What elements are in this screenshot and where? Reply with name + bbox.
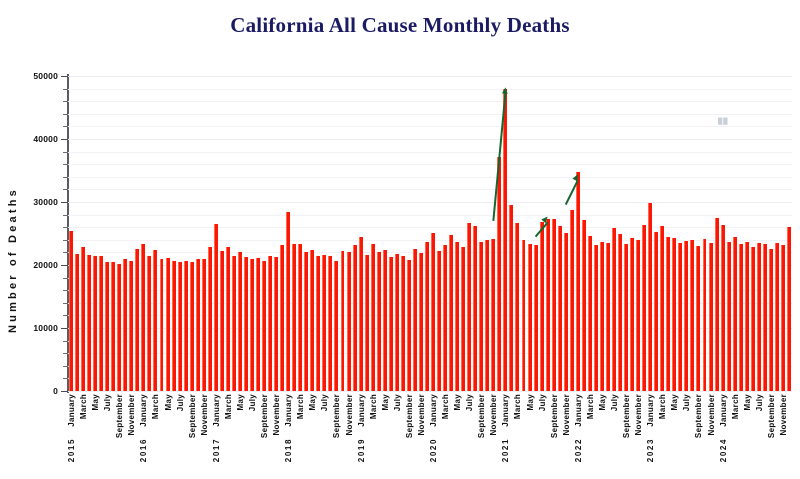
y-tick-minor	[63, 227, 68, 228]
bar	[401, 256, 405, 391]
bar	[341, 251, 345, 391]
bar	[268, 256, 272, 391]
bar	[588, 236, 592, 391]
x-axis-month-label: November	[272, 394, 281, 436]
x-axis-month-label: March	[369, 394, 378, 419]
x-axis-month-label: September	[188, 394, 197, 438]
bar	[564, 233, 568, 391]
x-axis-year-label: 2015	[67, 438, 76, 462]
y-tick-major	[61, 139, 68, 140]
bar	[751, 247, 755, 391]
y-tick-minor	[63, 89, 68, 90]
bar	[129, 261, 133, 391]
bar	[250, 259, 254, 391]
gridline-minor	[68, 378, 792, 379]
bar	[274, 257, 278, 391]
y-tick-minor	[63, 189, 68, 190]
bar	[467, 223, 471, 391]
bar	[479, 242, 483, 391]
gridline-major	[68, 76, 792, 77]
gridline-minor	[68, 152, 792, 153]
bar	[280, 245, 284, 391]
bar	[775, 243, 779, 391]
gridline-major	[68, 139, 792, 140]
bar	[328, 256, 332, 391]
bar	[642, 225, 646, 391]
bar	[449, 235, 453, 391]
bar	[485, 240, 489, 391]
y-tick-minor	[63, 341, 68, 342]
y-tick-minor	[63, 101, 68, 102]
bar	[648, 203, 652, 391]
bar	[491, 239, 495, 391]
x-axis-month-label: May	[670, 394, 679, 410]
bar	[347, 252, 351, 391]
gridline-minor	[68, 303, 792, 304]
bar	[672, 238, 676, 391]
bar	[781, 245, 785, 391]
x-axis-month-label: January	[719, 394, 728, 427]
x-axis-month-label: May	[743, 394, 752, 410]
bar	[528, 244, 532, 391]
bar	[552, 219, 556, 391]
x-axis-month-label: November	[562, 394, 571, 436]
bar	[684, 241, 688, 391]
bar	[172, 261, 176, 391]
y-tick-minor	[63, 240, 68, 241]
x-axis-month-label: May	[453, 394, 462, 410]
y-tick-minor	[63, 215, 68, 216]
bar	[202, 259, 206, 391]
gridline-minor	[68, 341, 792, 342]
gridline-minor	[68, 315, 792, 316]
x-axis-month-label: January	[67, 394, 76, 427]
bar	[334, 261, 338, 391]
bar	[582, 220, 586, 391]
gridline-major	[68, 265, 792, 266]
x-axis-month-label: November	[707, 394, 716, 436]
x-axis-month-label: September	[622, 394, 631, 438]
bar	[660, 226, 664, 391]
x-axis-month-label: September	[767, 394, 776, 438]
y-tick-minor	[63, 303, 68, 304]
y-tick-minor	[63, 290, 68, 291]
bar	[515, 223, 519, 391]
y-axis-label: 40000	[14, 134, 58, 144]
gridline-minor	[68, 215, 792, 216]
bar	[244, 257, 248, 391]
bar	[377, 252, 381, 391]
bar	[757, 243, 761, 391]
y-tick-minor	[63, 177, 68, 178]
x-axis-month-label: May	[236, 394, 245, 410]
bar	[383, 250, 387, 391]
x-axis-month-label: July	[248, 394, 257, 411]
bar	[503, 89, 507, 391]
bar	[310, 250, 314, 391]
bar	[184, 261, 188, 391]
bar	[286, 212, 290, 391]
y-tick-minor	[63, 126, 68, 127]
bar	[739, 244, 743, 391]
x-axis-month-label: March	[151, 394, 160, 419]
y-axis-label: 10000	[14, 323, 58, 333]
bar	[763, 244, 767, 391]
x-axis-month-label: November	[779, 394, 788, 436]
y-tick-major	[61, 391, 68, 392]
bar	[745, 242, 749, 391]
bar	[413, 249, 417, 391]
bar	[262, 261, 266, 391]
y-axis-label: 50000	[14, 71, 58, 81]
x-axis-month-label: July	[393, 394, 402, 411]
y-tick-major	[61, 265, 68, 266]
bar	[769, 249, 773, 391]
gridline-major	[68, 202, 792, 203]
y-tick-minor	[63, 315, 68, 316]
gridline-minor	[68, 240, 792, 241]
bar	[715, 218, 719, 391]
bar	[461, 247, 465, 391]
x-axis-year-label: 2016	[139, 438, 148, 462]
x-axis-month-label: March	[658, 394, 667, 419]
bar	[190, 262, 194, 391]
bar	[709, 243, 713, 391]
gridline-minor	[68, 164, 792, 165]
bar	[75, 254, 79, 391]
x-axis-year-label: 2018	[284, 438, 293, 462]
bar	[117, 264, 121, 391]
bar	[69, 231, 73, 391]
bar	[141, 244, 145, 391]
y-tick-minor	[63, 252, 68, 253]
x-axis-month-label: March	[731, 394, 740, 419]
x-axis-month-label: March	[441, 394, 450, 419]
bar	[322, 255, 326, 391]
bar	[304, 252, 308, 391]
gridline-major	[68, 328, 792, 329]
bar	[594, 245, 598, 391]
x-axis-month-label: September	[694, 394, 703, 438]
bar	[727, 242, 731, 391]
x-axis-month-label: November	[417, 394, 426, 436]
chart-container: California All Cause Monthly Deaths Numb…	[0, 0, 800, 479]
bar	[365, 255, 369, 391]
bar	[81, 247, 85, 391]
bar	[733, 237, 737, 391]
bar	[509, 205, 513, 391]
bar	[147, 256, 151, 391]
gridline-minor	[68, 353, 792, 354]
bar	[196, 259, 200, 391]
x-axis-month-label: November	[489, 394, 498, 436]
x-axis-year-label: 2019	[357, 438, 366, 462]
y-tick-major	[61, 328, 68, 329]
bar	[353, 245, 357, 391]
y-tick-minor	[63, 378, 68, 379]
x-axis-month-label: September	[477, 394, 486, 438]
gridline-minor	[68, 114, 792, 115]
bar	[703, 239, 707, 391]
x-axis-month-label: July	[103, 394, 112, 411]
bar	[636, 240, 640, 391]
bar	[721, 225, 725, 391]
bar	[93, 256, 97, 391]
x-axis-month-label: November	[345, 394, 354, 436]
bar	[606, 243, 610, 391]
x-axis-month-label: March	[296, 394, 305, 419]
y-tick-minor	[63, 164, 68, 165]
x-axis-month-label: November	[200, 394, 209, 436]
x-axis-month-label: November	[127, 394, 136, 436]
x-axis-year-label: 2023	[646, 438, 655, 462]
bar	[618, 234, 622, 392]
y-axis-label: 30000	[14, 197, 58, 207]
bar	[654, 232, 658, 391]
y-tick-major	[61, 202, 68, 203]
x-axis-month-label: July	[176, 394, 185, 411]
y-tick-minor	[63, 278, 68, 279]
stray-mark-icon: ██	[718, 119, 729, 125]
x-axis-month-label: May	[308, 394, 317, 410]
chart-title: California All Cause Monthly Deaths	[0, 13, 800, 38]
bar	[546, 219, 550, 391]
x-axis-tick-labels: January2015MarchMayJulySeptemberNovember…	[68, 392, 792, 479]
plot-area	[68, 76, 792, 391]
bar	[389, 257, 393, 391]
bar	[256, 258, 260, 391]
x-axis-month-label: July	[755, 394, 764, 411]
x-axis-month-label: May	[164, 394, 173, 410]
gridline-minor	[68, 227, 792, 228]
x-axis-month-label: July	[682, 394, 691, 411]
y-axis-label: 0	[14, 386, 58, 396]
bar	[558, 226, 562, 391]
bar	[612, 228, 616, 391]
bar	[431, 233, 435, 391]
x-axis-year-label: 2017	[212, 438, 221, 462]
bar	[473, 226, 477, 391]
x-axis-month-label: January	[284, 394, 293, 427]
bar	[153, 250, 157, 391]
bar	[437, 251, 441, 391]
bar	[455, 242, 459, 391]
x-axis-month-label: January	[212, 394, 221, 427]
bar	[534, 245, 538, 391]
bar	[624, 244, 628, 391]
bar	[208, 247, 212, 391]
x-axis-month-label: November	[634, 394, 643, 436]
gridline-minor	[68, 290, 792, 291]
bar	[678, 243, 682, 391]
bar	[160, 259, 164, 391]
bar	[292, 244, 296, 391]
x-axis-month-label: March	[586, 394, 595, 419]
bar	[298, 244, 302, 391]
bar	[232, 256, 236, 391]
bar	[497, 157, 501, 391]
x-axis-month-label: January	[646, 394, 655, 427]
x-axis-month-label: May	[526, 394, 535, 410]
x-axis-month-label: January	[574, 394, 583, 427]
x-axis-year-label: 2022	[574, 438, 583, 462]
bar	[395, 254, 399, 391]
gridline-minor	[68, 177, 792, 178]
gridline-minor	[68, 126, 792, 127]
bar	[540, 222, 544, 391]
x-axis-month-label: July	[610, 394, 619, 411]
x-axis-year-label: 2020	[429, 438, 438, 462]
bar	[787, 227, 791, 391]
bar	[443, 245, 447, 391]
gridline-minor	[68, 252, 792, 253]
x-axis-year-label: 2021	[501, 438, 510, 462]
x-axis-month-label: May	[381, 394, 390, 410]
x-axis-month-label: September	[260, 394, 269, 438]
bar	[214, 224, 218, 391]
bar	[371, 244, 375, 391]
bar	[666, 237, 670, 391]
gridline-minor	[68, 89, 792, 90]
bar	[600, 242, 604, 391]
bar	[316, 256, 320, 391]
bar	[111, 262, 115, 391]
x-axis-month-label: July	[538, 394, 547, 411]
y-axis-label: 20000	[14, 260, 58, 270]
bar	[135, 249, 139, 391]
x-axis-month-label: July	[465, 394, 474, 411]
x-axis-month-label: September	[332, 394, 341, 438]
bar	[696, 246, 700, 391]
x-axis-month-label: January	[429, 394, 438, 427]
bar	[359, 237, 363, 391]
bar	[522, 240, 526, 391]
y-tick-major	[61, 76, 68, 77]
bar	[105, 262, 109, 391]
x-axis-month-label: March	[79, 394, 88, 419]
bar	[238, 252, 242, 391]
x-axis-month-label: September	[550, 394, 559, 438]
bar	[99, 256, 103, 391]
x-axis-month-label: July	[320, 394, 329, 411]
bar	[576, 172, 580, 391]
bar	[690, 240, 694, 391]
y-tick-minor	[63, 353, 68, 354]
bar	[570, 210, 574, 391]
gridline-minor	[68, 366, 792, 367]
y-tick-minor	[63, 152, 68, 153]
x-axis-month-label: September	[405, 394, 414, 438]
x-axis-month-label: May	[598, 394, 607, 410]
bar	[425, 242, 429, 391]
gridline-minor	[68, 101, 792, 102]
y-axis-tick-labels: 01000020000300004000050000	[12, 0, 58, 479]
x-axis-month-label: January	[139, 394, 148, 427]
x-axis-month-label: May	[91, 394, 100, 410]
x-axis-month-label: January	[501, 394, 510, 427]
bar	[220, 251, 224, 391]
x-axis-year-label: 2024	[719, 438, 728, 462]
bar	[178, 262, 182, 391]
gridline-minor	[68, 278, 792, 279]
bar	[419, 253, 423, 391]
bar	[226, 247, 230, 391]
x-axis-month-label: March	[513, 394, 522, 419]
y-tick-minor	[63, 366, 68, 367]
bar	[123, 259, 127, 391]
y-tick-minor	[63, 114, 68, 115]
x-axis-month-label: January	[357, 394, 366, 427]
gridline-minor	[68, 189, 792, 190]
bar	[630, 238, 634, 391]
bar	[407, 260, 411, 391]
bar	[166, 258, 170, 391]
x-axis-month-label: March	[224, 394, 233, 419]
bar	[87, 255, 91, 391]
x-axis-month-label: September	[115, 394, 124, 438]
